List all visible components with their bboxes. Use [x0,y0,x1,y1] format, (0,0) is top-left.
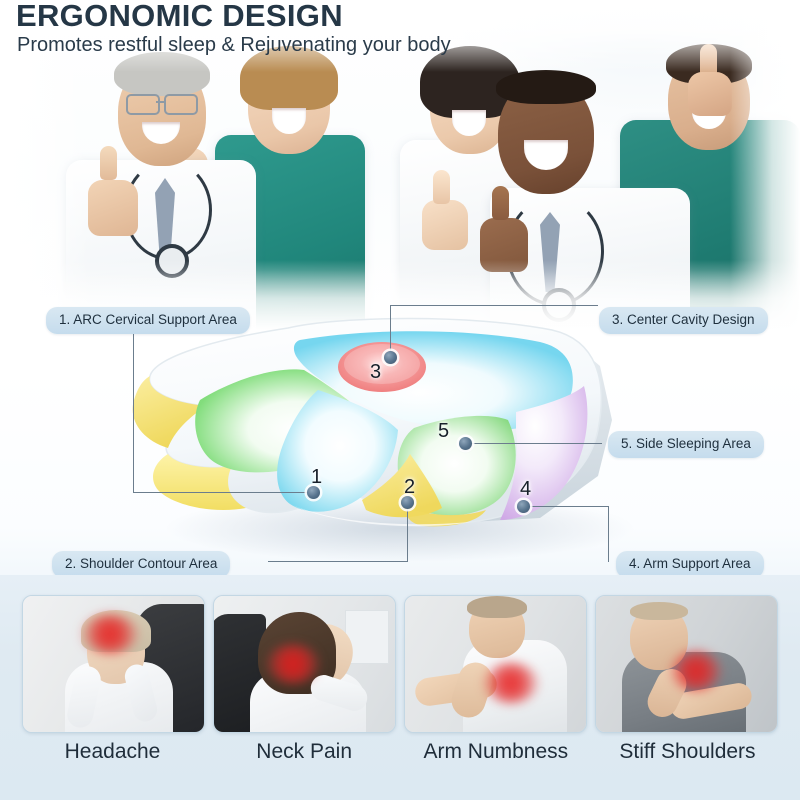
page-title: ERGONOMIC DESIGN [16,0,343,34]
leader-line-1 [133,492,315,493]
leader-line-5 [466,443,602,444]
leader-line-1-riser [133,320,134,493]
symptom-caption-stiff-shoulders: Stiff Shoulders [597,740,778,764]
callout-pill-1[interactable]: 1. ARC Cervical Support Area [46,307,250,334]
marker-dot-5[interactable] [459,437,472,450]
marker-dot-3[interactable] [384,351,397,364]
pain-indicator-neck [266,644,320,684]
symptom-photo-arm-numbness [405,596,586,732]
leader-line-2-run [268,561,408,562]
marker-number-5: 5 [438,420,449,443]
symptom-photo-neck-pain [214,596,395,732]
header: ERGONOMIC DESIGN Promotes restful sleep … [0,0,800,64]
symptom-card-row [0,595,800,735]
symptom-card-neck-pain[interactable] [213,595,396,733]
symptom-caption-row: Headache Neck Pain Arm Numbness Stiff Sh… [0,740,800,764]
symptom-photo-stiff-shoulders [596,596,777,732]
symptom-caption-arm-numbness: Arm Numbness [405,740,586,764]
leader-line-4 [608,506,609,562]
leader-line-4-run [525,506,609,507]
symptom-card-arm-numbness[interactable] [404,595,587,733]
symptom-caption-headache: Headache [22,740,203,764]
marker-number-3: 3 [370,361,381,384]
pain-indicator-arm [483,662,539,704]
symptom-card-stiff-shoulders[interactable] [595,595,778,733]
callout-pill-3[interactable]: 3. Center Cavity Design [599,307,768,334]
callout-pill-2[interactable]: 2. Shoulder Contour Area [52,551,230,578]
callout-pill-4[interactable]: 4. Arm Support Area [616,551,764,578]
marker-number-1: 1 [311,466,322,489]
marker-dot-4[interactable] [517,500,530,513]
pain-indicator-shoulder [670,650,722,692]
leader-line-3-run [390,305,598,306]
marker-number-2: 2 [404,476,415,499]
symptom-card-headache[interactable] [22,595,205,733]
marker-number-4: 4 [520,478,531,501]
callout-pill-5[interactable]: 5. Side Sleeping Area [608,431,764,458]
symptom-photo-headache [23,596,204,732]
leader-line-2 [407,502,408,562]
symptom-band: Headache Neck Pain Arm Numbness Stiff Sh… [0,575,800,800]
symptom-caption-neck-pain: Neck Pain [214,740,395,764]
infographic-page: ERGONOMIC DESIGN Promotes restful sleep … [0,0,800,800]
leader-line-3 [390,305,391,357]
page-subtitle: Promotes restful sleep & Rejuvenating yo… [17,34,451,57]
pain-indicator-headache [81,614,139,654]
